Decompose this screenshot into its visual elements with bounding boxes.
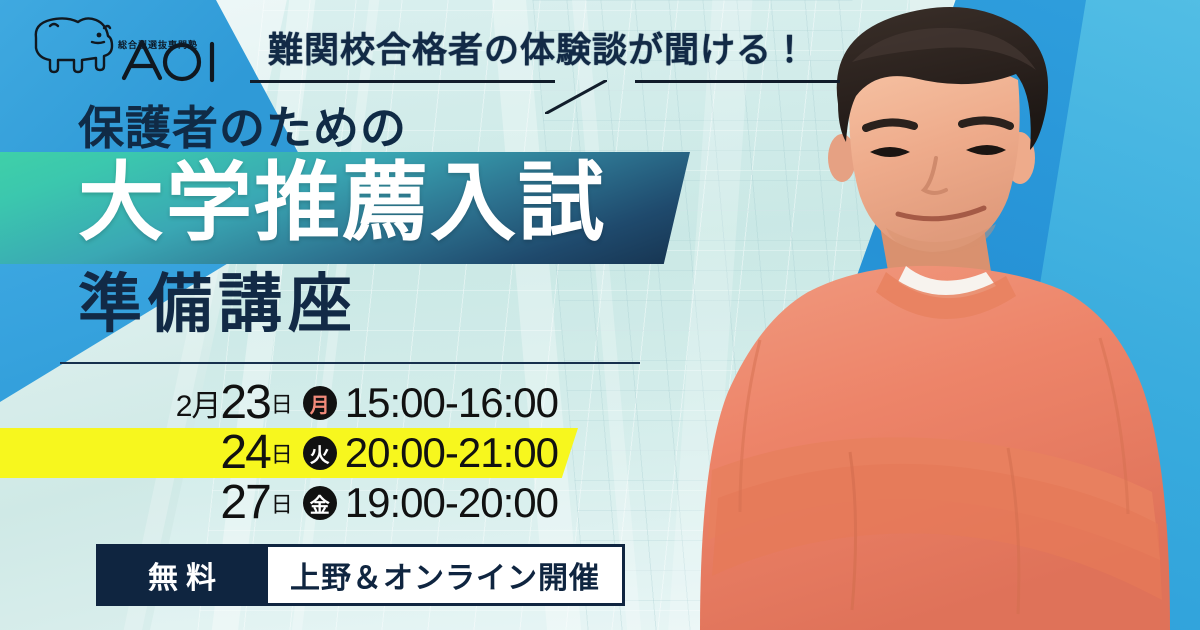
schedule-day: 23 xyxy=(220,379,269,427)
underline-right-segment xyxy=(635,80,840,83)
schedule-day-unit: 日 xyxy=(271,487,293,519)
aoi-logo[interactable]: 総合型選抜専門塾 xyxy=(20,8,230,86)
underline-diagonal-segment xyxy=(545,80,607,114)
title-line-2: 大学推薦入試 xyxy=(78,160,606,246)
schedule-weekday-badge: 火 xyxy=(303,436,337,470)
kicker-headline: 難関校合格者の体験談が聞ける！ xyxy=(268,22,808,73)
title-line-3: 準備講座 xyxy=(78,272,358,336)
schedule-day: 27 xyxy=(220,479,269,527)
schedule-weekday-badge: 金 xyxy=(303,486,337,520)
price-badge: 無料 xyxy=(96,544,268,606)
schedule-time: 20:00-21:00 xyxy=(345,429,558,477)
schedule-row: 24 日 火 20:00-21:00 xyxy=(0,428,580,478)
title-line-1: 保護者のための xyxy=(78,92,407,158)
schedule-weekday-badge: 月 xyxy=(303,386,337,420)
schedule-day: 24 xyxy=(220,429,269,477)
schedule-row: 27 日 金 19:00-20:00 xyxy=(0,478,580,528)
info-badges: 無料 上野＆オンライン開催 xyxy=(96,544,625,606)
schedule-day-unit: 日 xyxy=(271,387,293,419)
logo-tagline: 総合型選抜専門塾 xyxy=(118,38,198,51)
venue-badge: 上野＆オンライン開催 xyxy=(268,544,625,606)
hippo-icon xyxy=(36,18,112,72)
schedule-day-unit: 日 xyxy=(271,437,293,469)
underline-left-segment xyxy=(250,80,555,83)
promo-banner: 総合型選抜専門塾 難関校合格者の体験談が聞ける！ 保護者のための 大学推薦入試 … xyxy=(0,0,1200,630)
schedule-time: 15:00-16:00 xyxy=(345,379,558,427)
schedule-month: 2月 xyxy=(176,381,221,425)
section-divider xyxy=(60,362,640,364)
schedule-row: 2月 23 日 月 15:00-16:00 xyxy=(0,378,580,428)
schedule-time: 19:00-20:00 xyxy=(345,479,558,527)
